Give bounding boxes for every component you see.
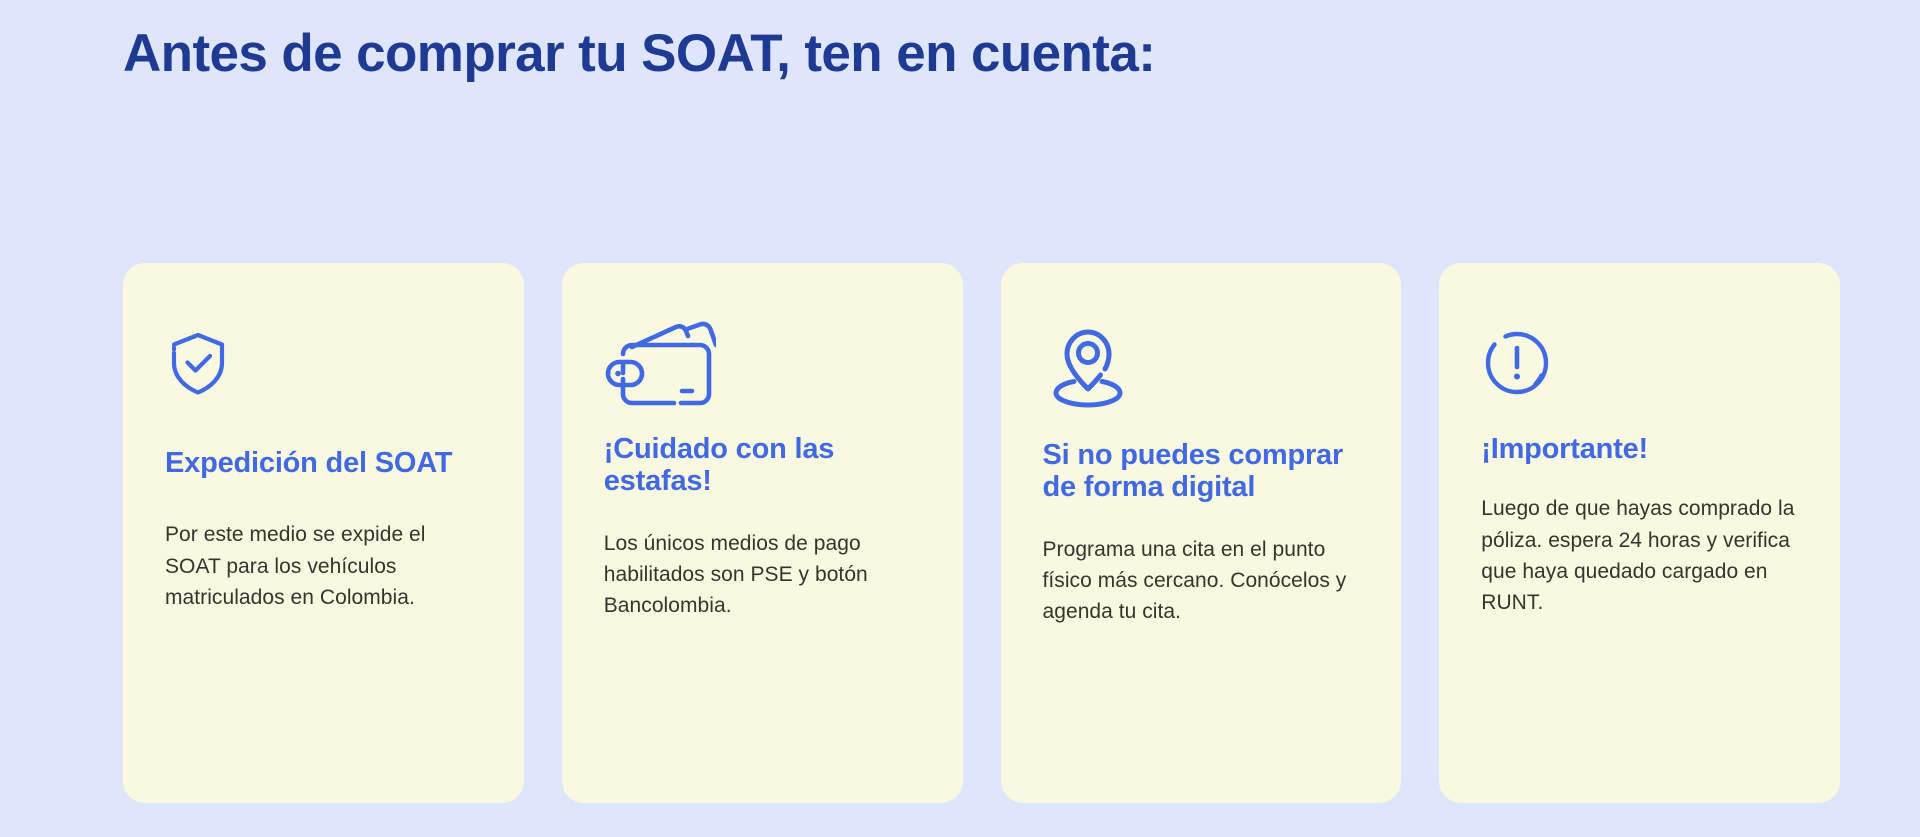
info-card-row: Expedición del SOAT Por este medio se ex… xyxy=(123,263,1840,803)
wallet-icon xyxy=(604,315,921,411)
soat-info-page: Antes de comprar tu SOAT, ten en cuenta:… xyxy=(0,0,1920,837)
card-title: ¡Cuidado con las estafas! xyxy=(604,433,921,498)
card-body: Programa una cita en el punto físico más… xyxy=(1043,534,1360,627)
card-title: Si no puedes comprar de forma digital xyxy=(1043,439,1360,504)
card-body: Los únicos medios de pago habilitados so… xyxy=(604,528,921,621)
info-card-importante: ¡Importante! Luego de que hayas comprado… xyxy=(1439,263,1840,803)
location-pin-icon xyxy=(1043,315,1360,411)
card-body: Luego de que hayas comprado la póliza. e… xyxy=(1481,493,1798,617)
shield-check-icon xyxy=(165,315,482,411)
page-title: Antes de comprar tu SOAT, ten en cuenta: xyxy=(123,24,1155,83)
info-card-expedicion-del-soat: Expedición del SOAT Por este medio se ex… xyxy=(123,263,524,803)
info-card-si-no-puedes-comprar-de-forma-digital: Si no puedes comprar de forma digital Pr… xyxy=(1001,263,1402,803)
card-title: Expedición del SOAT xyxy=(165,447,482,479)
card-body: Por este medio se expide el SOAT para lo… xyxy=(165,519,482,612)
exclamation-circle-icon xyxy=(1481,315,1798,411)
info-card-cuidado-con-las-estafas: ¡Cuidado con las estafas! Los únicos med… xyxy=(562,263,963,803)
card-title: ¡Importante! xyxy=(1481,433,1798,465)
